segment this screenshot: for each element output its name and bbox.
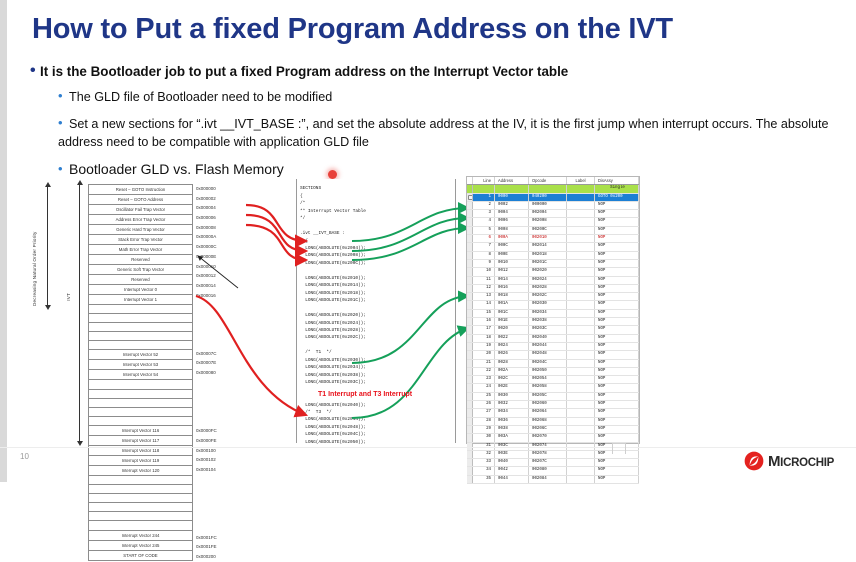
cell-line: 3 (473, 210, 495, 218)
cell-addr: 000A (495, 235, 529, 243)
table-row[interactable]: 33004000207CNOP (467, 459, 639, 467)
cell-addr: 0018 (495, 293, 529, 301)
cell-lab (567, 201, 595, 209)
cell-addr: 0022 (495, 334, 529, 342)
ivt-vector-name: Stack Error Trap Vector (89, 235, 193, 245)
ivt-row: Interrupt Vector 116 (89, 425, 193, 435)
table-row[interactable]: 270034002064NOP (467, 409, 639, 417)
cell-op: 002044 (529, 342, 567, 350)
table-row[interactable]: 17002000203CNOP (467, 326, 639, 334)
cell-lab (567, 475, 595, 483)
ivt-address-value: 0x000006 (196, 213, 256, 223)
ivt-row: Interrupt Vector 53 (89, 360, 193, 370)
table-row[interactable]: 8000E002018NOP (467, 251, 639, 259)
cell-lab (567, 259, 595, 267)
cell-line: 24 (473, 384, 495, 392)
cell-line: 19 (473, 342, 495, 350)
disassembly-header-row: LineAddressOpcodeLabelDisAssy (467, 177, 639, 185)
cell-line: 6 (473, 235, 495, 243)
ivt-vector-name (89, 380, 193, 389)
ivt-row: Stack Error Trap Vector (89, 235, 193, 245)
disassembly-listing-window[interactable]: LineAddressOpcodeLabelDisAssy Single1000… (466, 176, 640, 444)
ivt-vector-name (89, 494, 193, 503)
ivt-address-value (196, 513, 256, 523)
cell-op: 002024 (529, 276, 567, 284)
ivt-row: Interrupt Vector 119 (89, 455, 193, 465)
ivt-address-value: 0x0001FC (196, 533, 256, 543)
cell-dis: NOP (595, 318, 639, 326)
ivt-row (89, 323, 193, 332)
ivt-vector-name: Interrupt Vector 119 (89, 455, 193, 465)
cell-addr: 002C (495, 376, 529, 384)
ivt-address-value: 0x000002 (196, 194, 256, 204)
cell-lab (567, 334, 595, 342)
ivt-vector-name: Generic Hard Trap Vector (89, 225, 193, 235)
table-row[interactable]: 180022002040NOP (467, 334, 639, 342)
cell-lab (567, 293, 595, 301)
ivt-row (89, 485, 193, 494)
ivt-address-value: 0x00000C (196, 242, 256, 252)
cell-lab (567, 450, 595, 458)
cell-addr: 0016 (495, 284, 529, 292)
cell-dis: NOP (595, 259, 639, 267)
cell-addr: 0014 (495, 276, 529, 284)
cell-lab (567, 342, 595, 350)
disassembly-col-address[interactable]: Address (495, 177, 529, 185)
cell-dis: NOP (595, 301, 639, 309)
ivt-row: Interrupt Vector 54 (89, 370, 193, 380)
cell-op: 002058 (529, 384, 567, 392)
cell-dis: NOP (595, 268, 639, 276)
cell-line: 1 (473, 193, 495, 201)
disassembly-col-label[interactable]: Label (567, 177, 595, 185)
cell-addr: 0024 (495, 342, 529, 350)
table-row[interactable]: 15001C002034NOP (467, 309, 639, 317)
footer-placeholder-box (612, 443, 626, 454)
table-row[interactable]: 23002C002054NOP (467, 376, 639, 384)
cell-line: 16 (473, 318, 495, 326)
ivt-address-column: 0x0000000x0000020x0000040x0000060x000008… (196, 184, 256, 562)
cell-op: 002080 (529, 467, 567, 475)
ivt-row (89, 407, 193, 416)
cell-line: 2 (473, 201, 495, 209)
ivt-vector-name: Reserved (89, 275, 193, 285)
table-row[interactable]: 24002E002058NOP (467, 384, 639, 392)
ivt-vector-name (89, 512, 193, 521)
ivt-address-value: 0x000010 (196, 262, 256, 272)
cell-dis: NOP (595, 235, 639, 243)
ivt-vector-name (89, 305, 193, 314)
bullet-level2-3: •Bootloader GLD vs. Flash Memory (58, 161, 284, 177)
ivt-address-value (196, 310, 256, 320)
footer-divider (0, 447, 856, 448)
ivt-vector-name: Interrupt Vector 1 (89, 295, 193, 305)
filter-cell[interactable] (567, 185, 595, 193)
ivt-range-arrow-icon (79, 184, 80, 442)
cell-addr: 0034 (495, 409, 529, 417)
ivt-row (89, 494, 193, 503)
ivt-row: Interrupt Vector 245 (89, 540, 193, 550)
cell-op: 002064 (529, 409, 567, 417)
ivt-vector-name (89, 332, 193, 341)
page-title: How to Put a fixed Program Address on th… (32, 13, 832, 46)
cell-lab (567, 193, 595, 201)
cell-addr: 000E (495, 251, 529, 259)
ivt-address-value (196, 300, 256, 310)
ivt-vector-name: Reserved (89, 255, 193, 265)
cell-addr: 0032 (495, 401, 529, 409)
table-row[interactable]: 40006002008NOP (467, 218, 639, 226)
cell-line: 23 (473, 376, 495, 384)
cell-op: 002050 (529, 367, 567, 375)
cell-line: 32 (473, 450, 495, 458)
cell-addr: 003E (495, 450, 529, 458)
annotation-t1-t3-interrupt: T1 Interrupt and T3 Interrupt (318, 391, 412, 398)
cell-dis: NOP (595, 401, 639, 409)
cell-op: 002018 (529, 251, 567, 259)
cell-addr: 0038 (495, 425, 529, 433)
ivt-row: Interrupt Vector 120 (89, 465, 193, 475)
ivt-vector-name: Interrupt Vector 116 (89, 425, 193, 435)
cell-addr: 001A (495, 301, 529, 309)
ivt-address-value (196, 397, 256, 407)
table-row[interactable]: 7000C002014NOP (467, 243, 639, 251)
bullet-dot-icon: • (30, 62, 40, 80)
table-row[interactable]: 30004002004NOP (467, 210, 639, 218)
cell-op: 00206C (529, 425, 567, 433)
ivt-address-value: 0x00000E (196, 252, 256, 262)
disassembly-col-opcode[interactable]: Opcode (529, 177, 567, 185)
cell-addr: 0004 (495, 210, 529, 218)
cell-dis: NOP (595, 467, 639, 475)
cell-line: 26 (473, 401, 495, 409)
ivt-row (89, 416, 193, 425)
cell-line: 4 (473, 218, 495, 226)
cell-lab (567, 318, 595, 326)
table-row[interactable]: 340042002080NOP (467, 467, 639, 475)
cell-dis: GOTO 0x200 (595, 193, 639, 201)
cell-addr: 002E (495, 384, 529, 392)
cell-dis: NOP (595, 226, 639, 234)
cell-dis: NOP (595, 201, 639, 209)
filter-cell[interactable] (529, 185, 567, 193)
cell-line: 27 (473, 409, 495, 417)
cell-addr: 002A (495, 367, 529, 375)
ivt-row (89, 314, 193, 323)
cell-addr: 0044 (495, 475, 529, 483)
cell-lab (567, 401, 595, 409)
ivt-row: START OF CODE (89, 550, 193, 560)
cell-addr: 0002 (495, 201, 529, 209)
priority-arrow-icon (47, 186, 48, 306)
ivt-vector-name (89, 503, 193, 512)
cell-line: 22 (473, 367, 495, 375)
ivt-row: Reset – GOTO Instruction (89, 185, 193, 195)
ivt-address-value (196, 339, 256, 349)
table-row[interactable]: 120016002028NOP (467, 284, 639, 292)
cell-lab (567, 351, 595, 359)
cell-addr: 0000 (495, 193, 529, 201)
ivt-address-value (196, 417, 256, 427)
cell-op: 002034 (529, 309, 567, 317)
disassembly-filter-row[interactable]: Single (467, 185, 639, 193)
gld-code-text: SECTIONS { /* ** Interrupt Vector Table … (300, 185, 460, 446)
cell-op: 00207C (529, 459, 567, 467)
ivt-vector-name (89, 416, 193, 425)
label-decreasing-priority: Decreasing Natural Order Priority (32, 186, 37, 306)
ivt-address-value (196, 523, 256, 533)
cell-addr: 0008 (495, 226, 529, 234)
ivt-address-value: 0x0001FE (196, 542, 256, 552)
ivt-address-value (196, 484, 256, 494)
ivt-vector-name (89, 398, 193, 407)
cell-dis: NOP (595, 351, 639, 359)
cell-lab (567, 376, 595, 384)
table-row[interactable]: 30003A002070NOP (467, 434, 639, 442)
ivt-vector-name: Oscillator Fail Trap Vector (89, 205, 193, 215)
table-row[interactable]: 110014002024NOP (467, 276, 639, 284)
cell-line: 17 (473, 326, 495, 334)
ivt-vector-name: Interrupt Vector 117 (89, 435, 193, 445)
ivt-address-value: 0x0000FC (196, 426, 256, 436)
bullet-level2-1-text: The GLD file of Bootloader need to be mo… (69, 90, 332, 104)
cell-dis: NOP (595, 251, 639, 259)
ivt-address-value (196, 494, 256, 504)
cell-op: 00203C (529, 326, 567, 334)
cell-dis: NOP (595, 459, 639, 467)
cell-addr: 0036 (495, 417, 529, 425)
cell-line: 18 (473, 334, 495, 342)
cell-line: 12 (473, 284, 495, 292)
cell-line: 20 (473, 351, 495, 359)
cell-addr: 0010 (495, 259, 529, 267)
cell-line: 33 (473, 459, 495, 467)
table-row[interactable]: 6000A002010NOP (467, 235, 639, 243)
table-row[interactable]: 5000800200CNOP (467, 226, 639, 234)
ivt-row (89, 389, 193, 398)
filter-cell[interactable] (473, 185, 495, 193)
cell-lab (567, 434, 595, 442)
figure-bootloader-gld-vs-flash: Decreasing Natural Order Priority IVT Re… (0, 178, 856, 448)
cell-line: 21 (473, 359, 495, 367)
cell-op: 002010 (529, 235, 567, 243)
table-row[interactable]: 280036002068NOP (467, 417, 639, 425)
bullet-level2-1: •The GLD file of Bootloader need to be m… (58, 88, 332, 104)
cell-op: 002038 (529, 318, 567, 326)
cell-op: 040200 (529, 193, 567, 201)
cell-op: 002008 (529, 218, 567, 226)
cell-op: 002048 (529, 351, 567, 359)
table-row[interactable]: 25003000205CNOP (467, 392, 639, 400)
ivt-address-value: 0x000080 (196, 368, 256, 378)
ivt-address-value: 0x000016 (196, 291, 256, 301)
cell-lab (567, 392, 595, 400)
cell-line: 29 (473, 425, 495, 433)
cell-lab (567, 309, 595, 317)
ivt-address-value (196, 320, 256, 330)
table-row[interactable]: 14001A002030NOP (467, 301, 639, 309)
ivt-vector-name (89, 341, 193, 350)
cell-op: 002020 (529, 268, 567, 276)
ivt-vector-name: Interrupt Vector 52 (89, 350, 193, 360)
cell-dis: NOP (595, 334, 639, 342)
table-row[interactable]: 9001000201CNOP (467, 259, 639, 267)
cell-op: 002014 (529, 243, 567, 251)
ivt-row: Math Error Trap Vector (89, 245, 193, 255)
cell-dis: NOP (595, 284, 639, 292)
cell-op: 002030 (529, 301, 567, 309)
table-row[interactable]: 13001800202CNOP (467, 293, 639, 301)
disassembly-col-line[interactable]: Line (473, 177, 495, 185)
ivt-address-value: 0x00000A (196, 232, 256, 242)
cell-lab (567, 417, 595, 425)
cell-dis: NOP (595, 326, 639, 334)
ivt-address-value: 0x000012 (196, 271, 256, 281)
ivt-vector-name: Interrupt Vector 245 (89, 540, 193, 550)
cell-op: 00201C (529, 259, 567, 267)
cell-addr: 0028 (495, 359, 529, 367)
ivt-address-value (196, 475, 256, 485)
ivt-address-value: 0x00007C (196, 349, 256, 359)
cell-lab (567, 235, 595, 243)
ivt-vector-name: Interrupt Vector 0 (89, 285, 193, 295)
ivt-address-value: 0x000104 (196, 465, 256, 475)
disassembly-table[interactable]: LineAddressOpcodeLabelDisAssy Single1000… (467, 177, 639, 484)
cell-addr: 0006 (495, 218, 529, 226)
ivt-row (89, 512, 193, 521)
cell-lab (567, 326, 595, 334)
cell-lab (567, 425, 595, 433)
ivt-address-value: 0x000102 (196, 455, 256, 465)
ivt-address-value (196, 387, 256, 397)
microchip-logo: MICROCHIP (744, 450, 834, 472)
cell-op: 002054 (529, 376, 567, 384)
cell-dis: NOP (595, 392, 639, 400)
cell-op: 002070 (529, 434, 567, 442)
cell-addr: 000C (495, 243, 529, 251)
table-row[interactable]: 22002A002050NOP (467, 367, 639, 375)
cell-op: 002078 (529, 450, 567, 458)
ivt-vector-name: START OF CODE (89, 550, 193, 560)
cell-dis: NOP (595, 342, 639, 350)
table-row[interactable]: 190024002044NOP (467, 342, 639, 350)
ivt-vector-name: Reset – GOTO Address (89, 195, 193, 205)
ivt-vector-name: Generic Soft Trap Vector (89, 265, 193, 275)
ivt-vector-name: Reset – GOTO Instruction (89, 185, 193, 195)
cell-dis: NOP (595, 425, 639, 433)
filter-cell[interactable]: Single (595, 185, 639, 193)
bullet-level2-2-text: Set a new sections for “.ivt __IVT_BASE … (58, 117, 829, 149)
ivt-address-value (196, 329, 256, 339)
bullet-dot-icon: • (58, 114, 69, 132)
ivt-address-value: 0x000200 (196, 552, 256, 562)
ivt-vector-name (89, 407, 193, 416)
cell-line: 10 (473, 268, 495, 276)
cell-op: 002084 (529, 475, 567, 483)
ivt-vector-name: Interrupt Vector 54 (89, 370, 193, 380)
cell-lab (567, 226, 595, 234)
cell-lab (567, 367, 595, 375)
cell-op: 00205C (529, 392, 567, 400)
filter-cell[interactable] (495, 185, 529, 193)
ivt-row: Interrupt Vector 244 (89, 530, 193, 540)
disassembly-col-disassy[interactable]: DisAssy (595, 177, 639, 185)
cell-line: 14 (473, 301, 495, 309)
ivt-row: Address Error Trap Vector (89, 215, 193, 225)
cell-line: 35 (473, 475, 495, 483)
cell-lab (567, 218, 595, 226)
ivt-vector-name: Interrupt Vector 244 (89, 530, 193, 540)
ivt-row: Interrupt Vector 0 (89, 285, 193, 295)
ivt-vector-name (89, 475, 193, 484)
cell-op: 002068 (529, 417, 567, 425)
table-row[interactable]: 16001E002038NOP (467, 318, 639, 326)
table-row[interactable]: 29003800206CNOP (467, 425, 639, 433)
table-row[interactable]: 10000040200GOTO 0x200 (467, 193, 639, 201)
ivt-row (89, 380, 193, 389)
bullet-level2-3-text: Bootloader GLD vs. Flash Memory (69, 161, 284, 177)
ivt-row: Interrupt Vector 117 (89, 435, 193, 445)
table-row[interactable]: 350044002084NOP (467, 475, 639, 483)
ivt-vector-table: Reset – GOTO InstructionReset – GOTO Add… (88, 184, 193, 561)
cell-lab (567, 268, 595, 276)
cell-line: 8 (473, 251, 495, 259)
table-row[interactable]: 21002800204CNOP (467, 359, 639, 367)
table-row[interactable]: 100012002020NOP (467, 268, 639, 276)
cell-dis: NOP (595, 417, 639, 425)
ivt-row: Generic Hard Trap Vector (89, 225, 193, 235)
cell-line: 5 (473, 226, 495, 234)
ivt-address-value: 0x0000FE (196, 436, 256, 446)
cell-lab (567, 301, 595, 309)
cell-line: 28 (473, 417, 495, 425)
cell-line: 11 (473, 276, 495, 284)
cell-addr: 0030 (495, 392, 529, 400)
cell-dis: NOP (595, 293, 639, 301)
ivt-vector-name (89, 389, 193, 398)
cell-line: 25 (473, 392, 495, 400)
microchip-mark-icon (744, 451, 764, 471)
cell-dis: NOP (595, 309, 639, 317)
cell-lab (567, 284, 595, 292)
cell-lab (567, 210, 595, 218)
ivt-row: Reset – GOTO Address (89, 195, 193, 205)
cell-addr: 001E (495, 318, 529, 326)
ivt-row: Reserved (89, 255, 193, 265)
cell-lab (567, 359, 595, 367)
table-row[interactable]: 260032002060NOP (467, 401, 639, 409)
ivt-vector-name (89, 323, 193, 332)
ivt-row (89, 398, 193, 407)
cell-addr: 0020 (495, 326, 529, 334)
ivt-address-value: 0x000014 (196, 281, 256, 291)
ivt-vector-name: Interrupt Vector 53 (89, 360, 193, 370)
cell-lab (567, 243, 595, 251)
microchip-logo-text: MICROCHIP (768, 453, 834, 470)
table-row[interactable]: 200026002048NOP (467, 351, 639, 359)
ivt-row (89, 332, 193, 341)
cell-op: 002004 (529, 210, 567, 218)
cell-dis: NOP (595, 243, 639, 251)
cell-lab (567, 384, 595, 392)
cell-dis: NOP (595, 359, 639, 367)
cell-dis: NOP (595, 210, 639, 218)
cell-op: 002040 (529, 334, 567, 342)
table-row[interactable]: 20002000000NOP (467, 201, 639, 209)
cell-op: 00200C (529, 226, 567, 234)
cell-addr: 0012 (495, 268, 529, 276)
cell-op: 002060 (529, 401, 567, 409)
